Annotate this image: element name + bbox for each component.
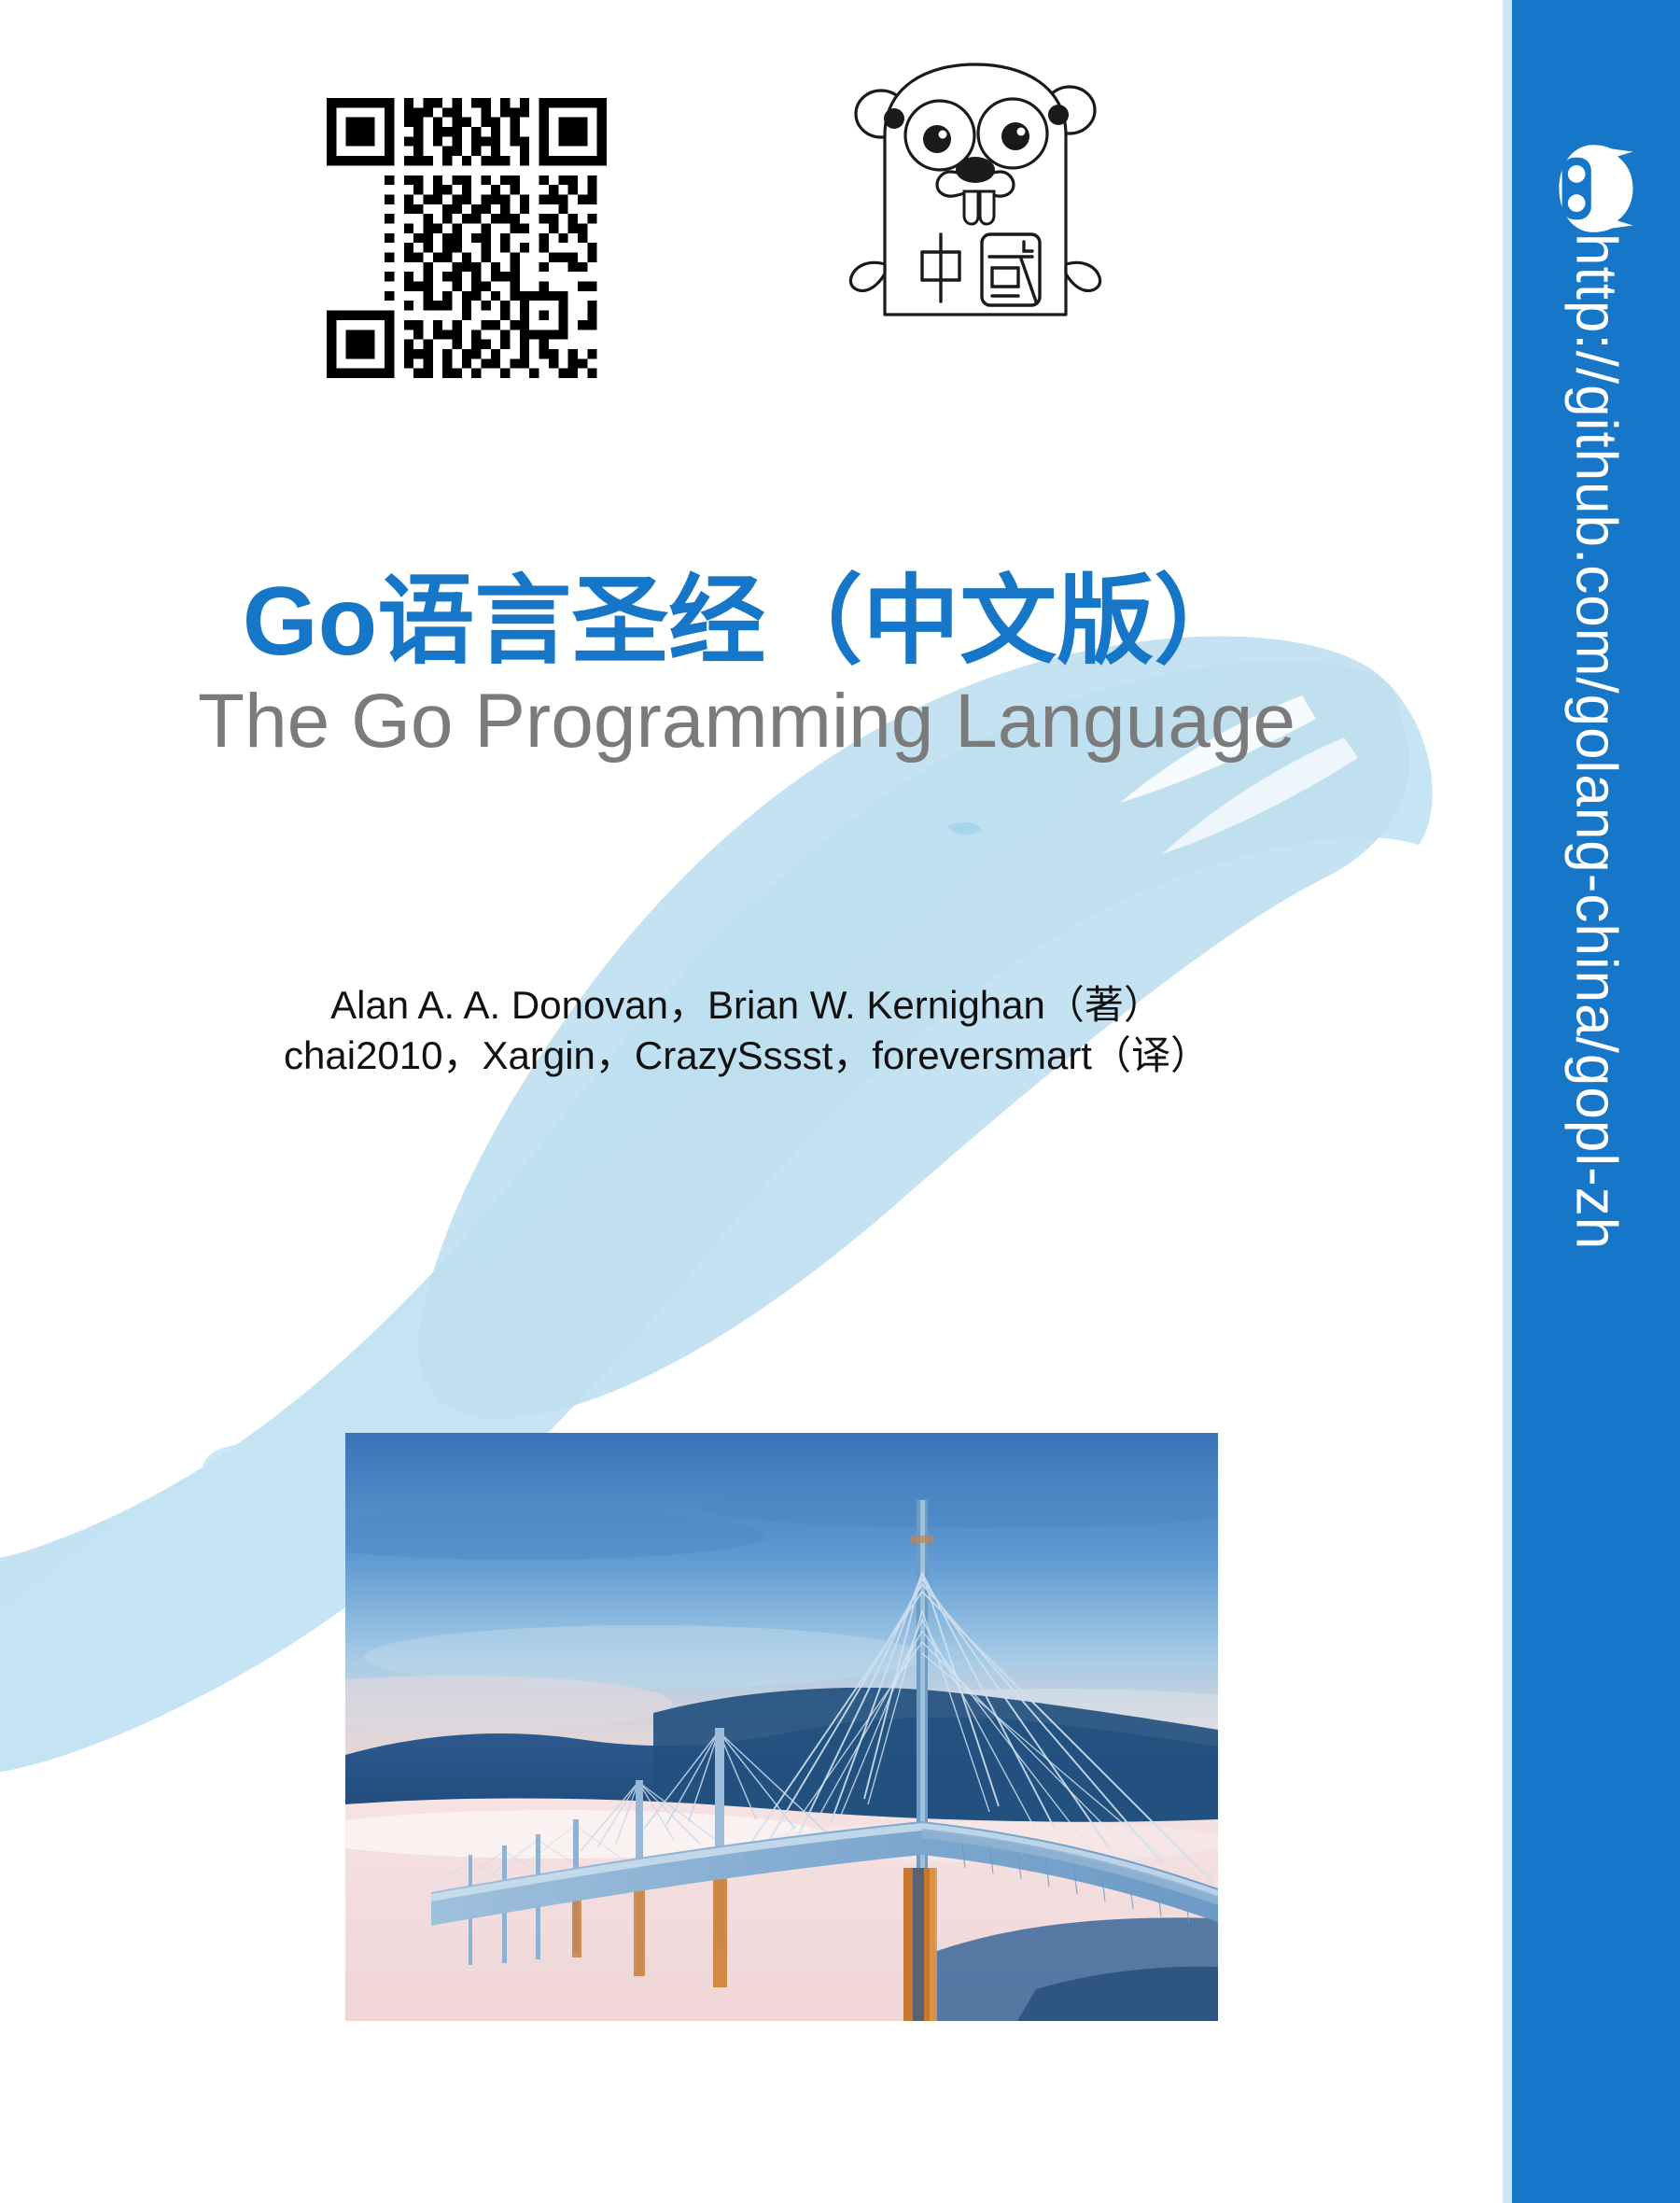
go-gopher-mascot: [840, 42, 1111, 317]
sidebar-url-container: http://github.com/golang-china/gopl-zh: [1512, 233, 1680, 1914]
author-line-translators: chai2010，Xargin，CrazySssst，foreversmart（…: [0, 1031, 1493, 1081]
page-title-english: The Go Programming Language: [0, 678, 1493, 765]
page-title-chinese: Go语言圣经（中文版）: [0, 569, 1493, 674]
author-line-original: Alan A. A. Donovan，Brian W. Kernighan（著）: [0, 980, 1493, 1031]
millau-viaduct-bridge-photo: [345, 1433, 1218, 2021]
sidebar-edge-strip: [1503, 0, 1512, 2203]
github-sidebar: http://github.com/golang-china/gopl-zh: [1512, 0, 1680, 2203]
qr-code[interactable]: [327, 98, 607, 378]
github-octocat-icon[interactable]: [1547, 140, 1645, 237]
author-block: Alan A. A. Donovan，Brian W. Kernighan（著）…: [0, 980, 1493, 1081]
github-url-link[interactable]: http://github.com/golang-china/gopl-zh: [1563, 233, 1630, 1250]
book-cover: Go语言圣经（中文版） The Go Programming Language …: [0, 0, 1680, 2203]
title-block: Go语言圣经（中文版） The Go Programming Language: [0, 569, 1493, 766]
